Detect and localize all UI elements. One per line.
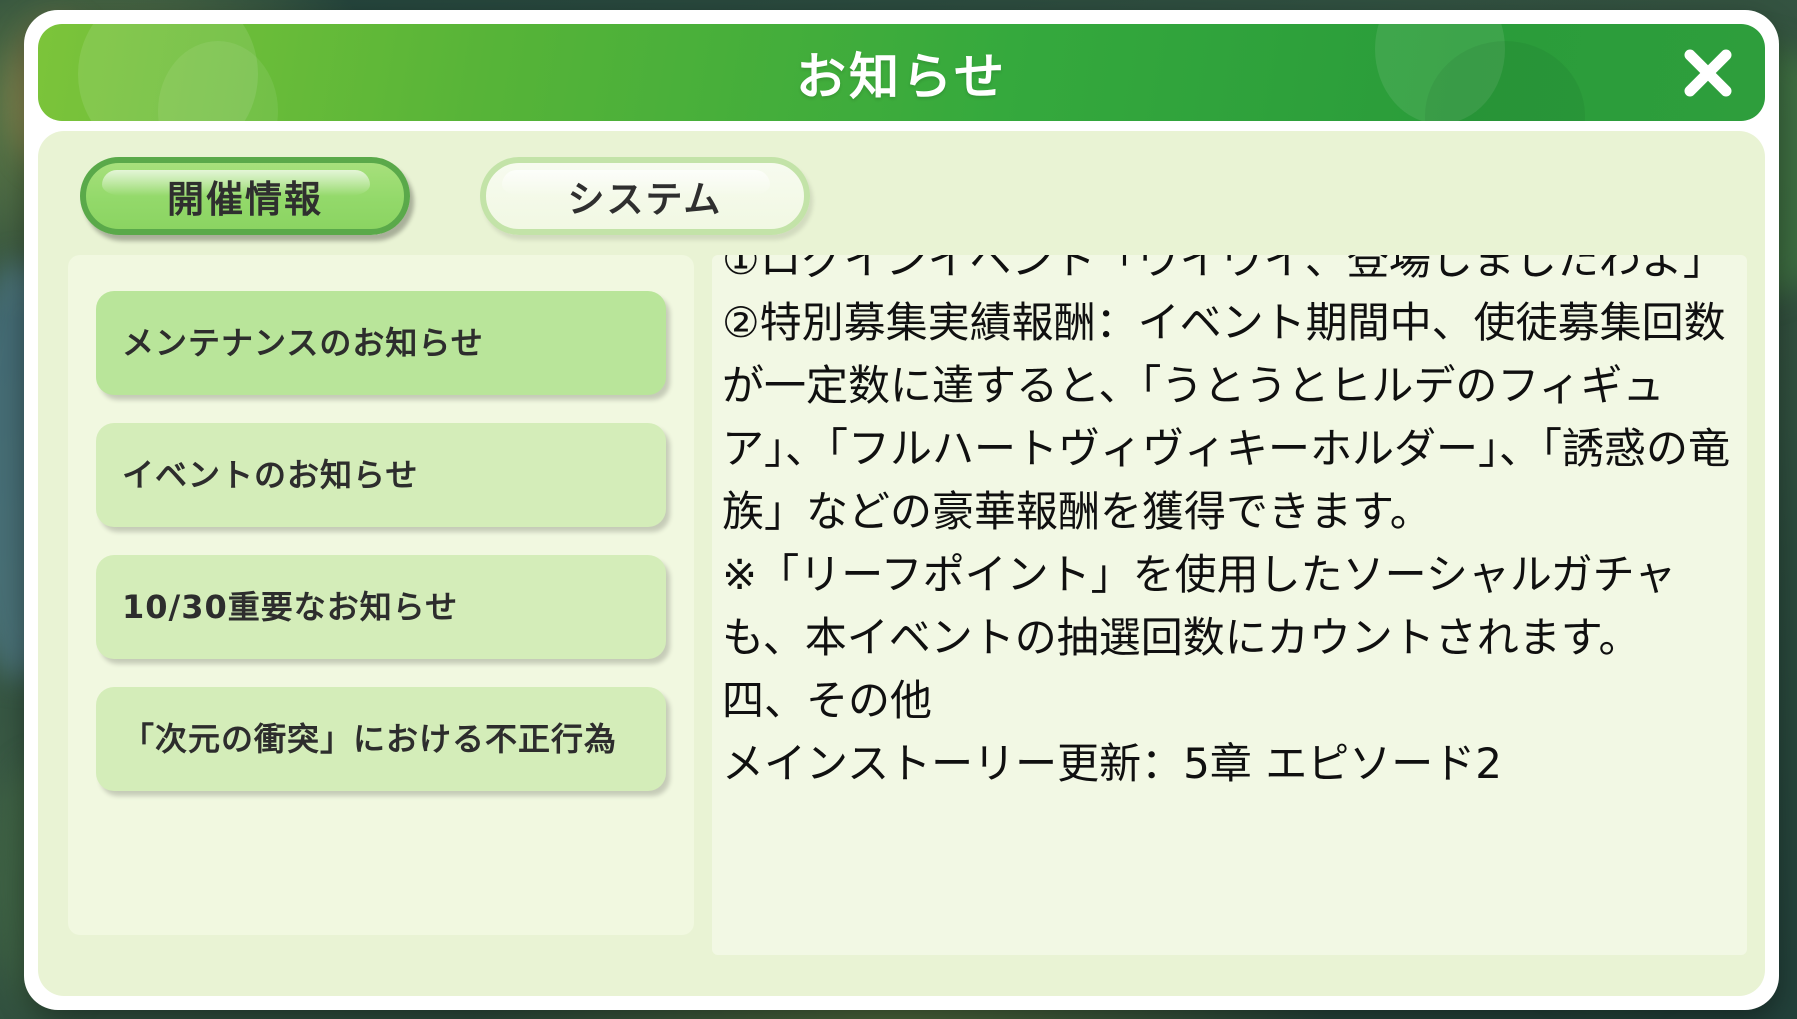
- tab-event-info[interactable]: 開催情報: [80, 157, 410, 235]
- list-item[interactable]: 「次元の衝突」における不正行為: [96, 687, 666, 791]
- tab-label: システム: [568, 169, 723, 223]
- tab-label: 開催情報: [167, 169, 323, 223]
- notice-list-panel[interactable]: メンテナンスのお知らせ イベントのお知らせ 10/30重要なお知らせ 「次元の衝…: [68, 255, 694, 935]
- list-item-label: 「次元の衝突」における不正行為: [122, 719, 617, 760]
- tab-bar: 開催情報 システム: [56, 145, 1747, 255]
- notice-content-text: ①ログインイベント「ウイウイ、登場しましたわよ」 ②特別募集実績報酬：イベント期…: [722, 255, 1741, 795]
- list-item-label: イベントのお知らせ: [122, 455, 418, 496]
- page-title: お知らせ: [796, 37, 1007, 109]
- panels-container: メンテナンスのお知らせ イベントのお知らせ 10/30重要なお知らせ 「次元の衝…: [56, 255, 1747, 978]
- tab-system[interactable]: システム: [480, 157, 810, 235]
- dialog-body: 開催情報 システム メンテナンスのお知らせ イベントのお知らせ 10/30重要な…: [38, 131, 1765, 996]
- list-item[interactable]: メンテナンスのお知らせ: [96, 291, 666, 395]
- close-button[interactable]: [1673, 38, 1743, 108]
- notice-dialog: お知らせ 開催情報 システム: [24, 10, 1779, 1010]
- list-item-label: 10/30重要なお知らせ: [122, 587, 458, 628]
- dialog-header: お知らせ: [38, 24, 1765, 121]
- list-item[interactable]: 10/30重要なお知らせ: [96, 555, 666, 659]
- close-icon: [1678, 43, 1738, 103]
- notice-content-scroll-area[interactable]: ①ログインイベント「ウイウイ、登場しましたわよ」 ②特別募集実績報酬：イベント期…: [712, 255, 1747, 955]
- list-item[interactable]: イベントのお知らせ: [96, 423, 666, 527]
- list-item-label: メンテナンスのお知らせ: [122, 323, 484, 364]
